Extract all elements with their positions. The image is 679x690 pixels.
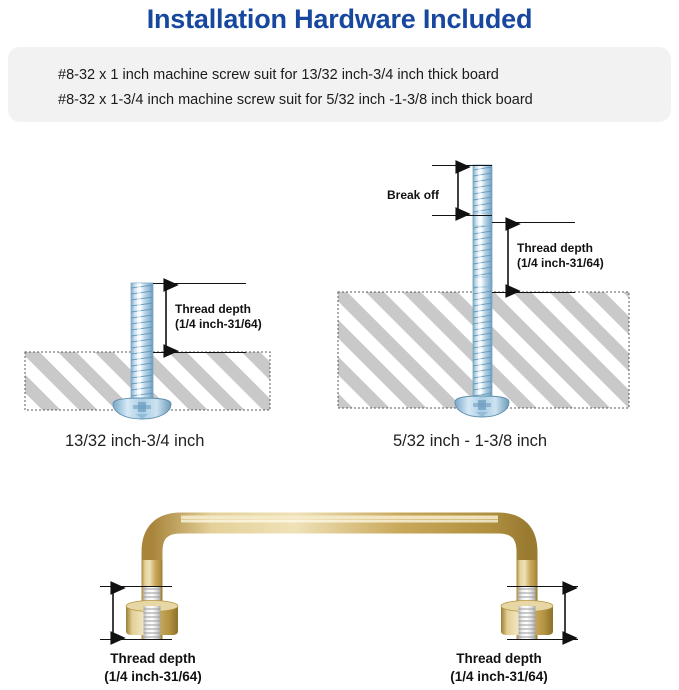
right-thread-depth-label: Thread depth (1/4 inch-31/64): [517, 241, 604, 271]
handle-diagram: [100, 516, 578, 640]
handle-left-label-line2: (1/4 inch-31/64): [60, 668, 246, 686]
left-thread-depth-label: Thread depth (1/4 inch-31/64): [175, 302, 262, 332]
installation-hardware-infographic: Installation Hardware Included #8-32 x 1…: [0, 0, 679, 690]
page-title: Installation Hardware Included: [0, 0, 679, 38]
left-screw-caption: 13/32 inch-3/4 inch: [65, 432, 204, 451]
left-thread-depth-line2: (1/4 inch-31/64): [175, 317, 262, 332]
right-screw-caption: 5/32 inch - 1-3/8 inch: [393, 432, 547, 451]
handle-right-thread-depth-label: Thread depth (1/4 inch-31/64): [406, 650, 592, 686]
break-off-label: Break off: [387, 188, 439, 203]
right-screw-diagram: [338, 165, 629, 417]
spec-line-1: #8-32 x 1 inch machine screw suit for 13…: [58, 67, 499, 83]
left-thread-depth-line1: Thread depth: [175, 302, 262, 317]
handle-right-label-line1: Thread depth: [406, 650, 592, 668]
right-thread-depth-line1: Thread depth: [517, 241, 604, 256]
right-thread-depth-line2: (1/4 inch-31/64): [517, 256, 604, 271]
handle-left-thread-depth-label: Thread depth (1/4 inch-31/64): [60, 650, 246, 686]
spec-line-2: #8-32 x 1-3/4 inch machine screw suit fo…: [58, 92, 533, 108]
handle-left-label-line1: Thread depth: [60, 650, 246, 668]
spec-callout-box: [8, 47, 671, 122]
handle-right-label-line2: (1/4 inch-31/64): [406, 668, 592, 686]
